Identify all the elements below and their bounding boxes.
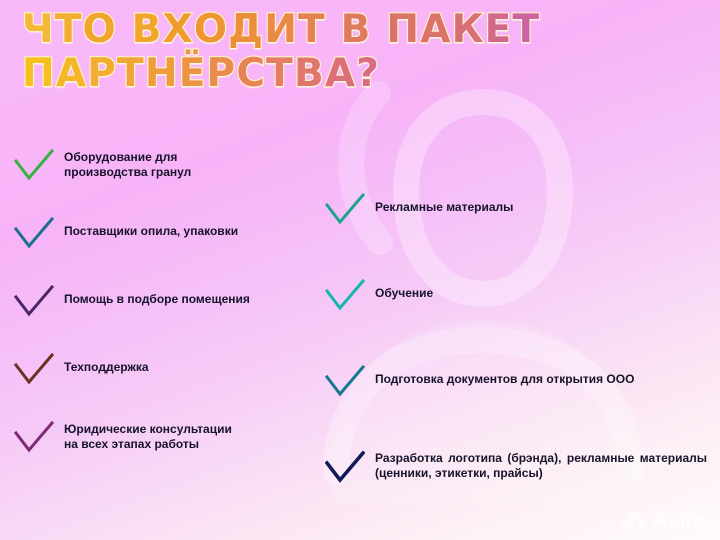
poster-title: ЧТО ВХОДИТ В ПАКЕТ ПАРТНЁРСТВА? [22,8,582,95]
feature-label: Разработка логотипа (брэнда), рекламные … [375,450,707,482]
feature-item-documents[interactable]: Подготовка документов для открытия ООО [325,364,707,399]
feature-label: Подготовка документов для открытия ООО [375,364,634,387]
feature-label: Обучение [375,278,433,301]
feature-item-ad-materials[interactable]: Рекламные материалы [325,192,707,227]
feature-list-right: Рекламные материалы Обучение Подготовка … [325,192,707,536]
feature-list-left: Оборудование для производства гранул Пос… [14,148,314,488]
checkmark-icon [14,421,54,455]
checkmark-icon [325,193,365,227]
checkmark-icon [325,279,365,313]
checkmark-icon [14,353,54,387]
feature-item-techsupport[interactable]: Техподдержка [14,352,314,387]
feature-label: Юридические консультации на всех этапах … [64,420,232,453]
checkmark-icon [14,149,54,183]
feature-item-branding[interactable]: Разработка логотипа (брэнда), рекламные … [325,450,707,485]
title-line-2: ПАРТНЁРСТВА? [22,52,582,96]
feature-label: Рекламные материалы [375,192,513,215]
feature-item-premises[interactable]: Помощь в подборе помещения [14,284,314,319]
checkmark-icon [14,217,54,251]
feature-label: Поставщики опила, упаковки [64,216,238,239]
title-line-1: ЧТО ВХОДИТ В ПАКЕТ [22,8,582,52]
feature-item-training[interactable]: Обучение [325,278,707,313]
feature-label: Техподдержка [64,352,149,375]
feature-item-equipment[interactable]: Оборудование для производства гранул [14,148,314,183]
checkmark-icon [14,285,54,319]
feature-item-legal[interactable]: Юридические консультации на всех этапах … [14,420,314,455]
poster-canvas: ЧТО ВХОДИТ В ПАКЕТ ПАРТНЁРСТВА? Оборудов… [0,0,720,540]
checkmark-icon [325,365,365,399]
feature-label: Оборудование для производства гранул [64,148,191,181]
feature-label: Помощь в подборе помещения [64,284,250,307]
feature-item-suppliers[interactable]: Поставщики опила, упаковки [14,216,314,251]
checkmark-icon [325,451,365,485]
